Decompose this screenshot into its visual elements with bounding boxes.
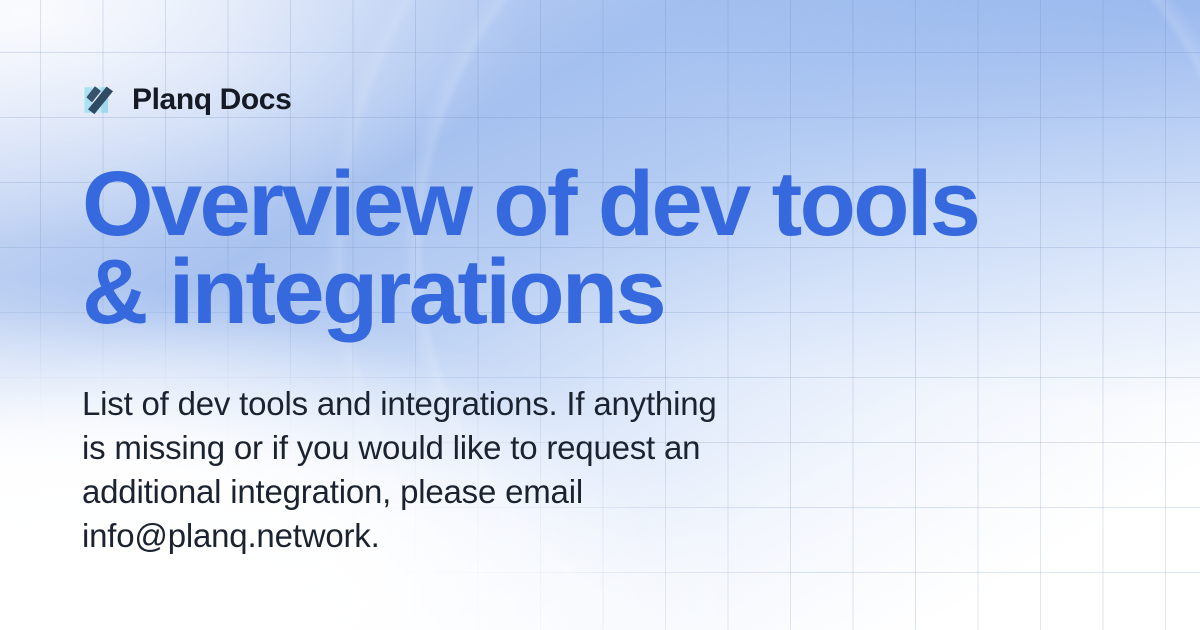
card-content: Planq Docs Overview of dev tools & integ…	[82, 0, 1112, 630]
page-description: List of dev tools and integrations. If a…	[82, 382, 872, 558]
og-card: Planq Docs Overview of dev tools & integ…	[0, 0, 1200, 630]
brand-name: Planq Docs	[132, 85, 291, 115]
brand-lockup: Planq Docs	[82, 82, 291, 118]
page-title: Overview of dev tools & integrations	[82, 160, 1092, 336]
planq-x-logo-icon	[82, 82, 118, 118]
